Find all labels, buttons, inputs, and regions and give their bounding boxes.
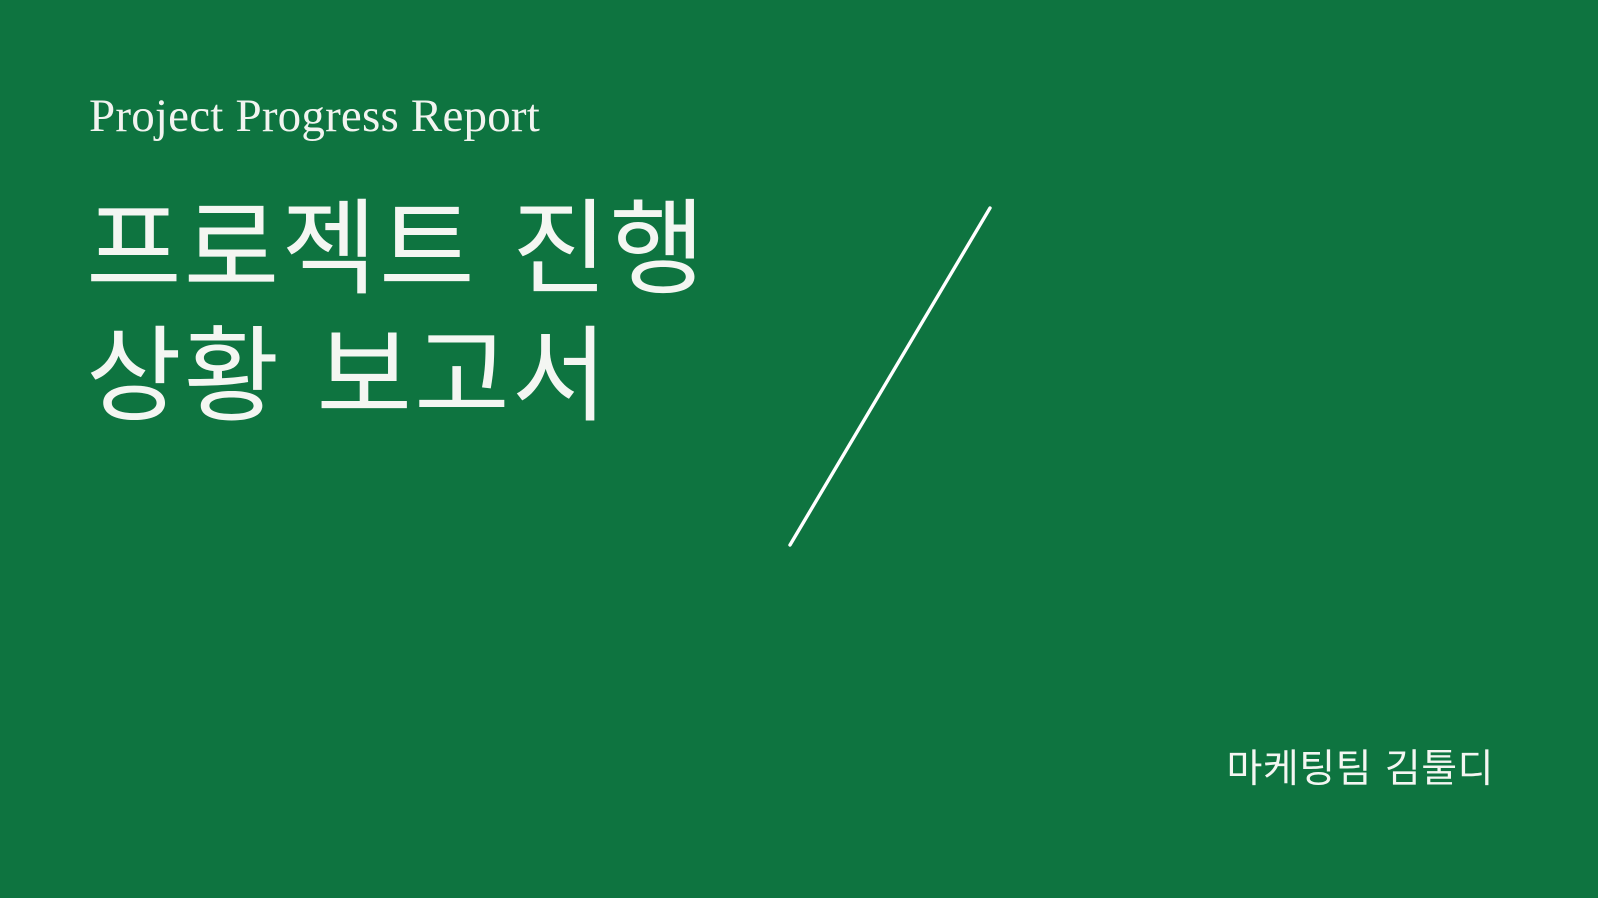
author-credit: 마케팅팀 김툴디 bbox=[1226, 747, 1494, 794]
title-slide: Project Progress Report 프로젝트 진행 상황 보고서 마… bbox=[0, 0, 1598, 898]
page-title-line-2: 상황 보고서 bbox=[86, 313, 906, 440]
page-title: 프로젝트 진행 상황 보고서 bbox=[86, 186, 906, 440]
eyebrow-subtitle: Project Progress Report bbox=[89, 92, 540, 141]
page-title-line-1: 프로젝트 진행 bbox=[86, 186, 906, 313]
